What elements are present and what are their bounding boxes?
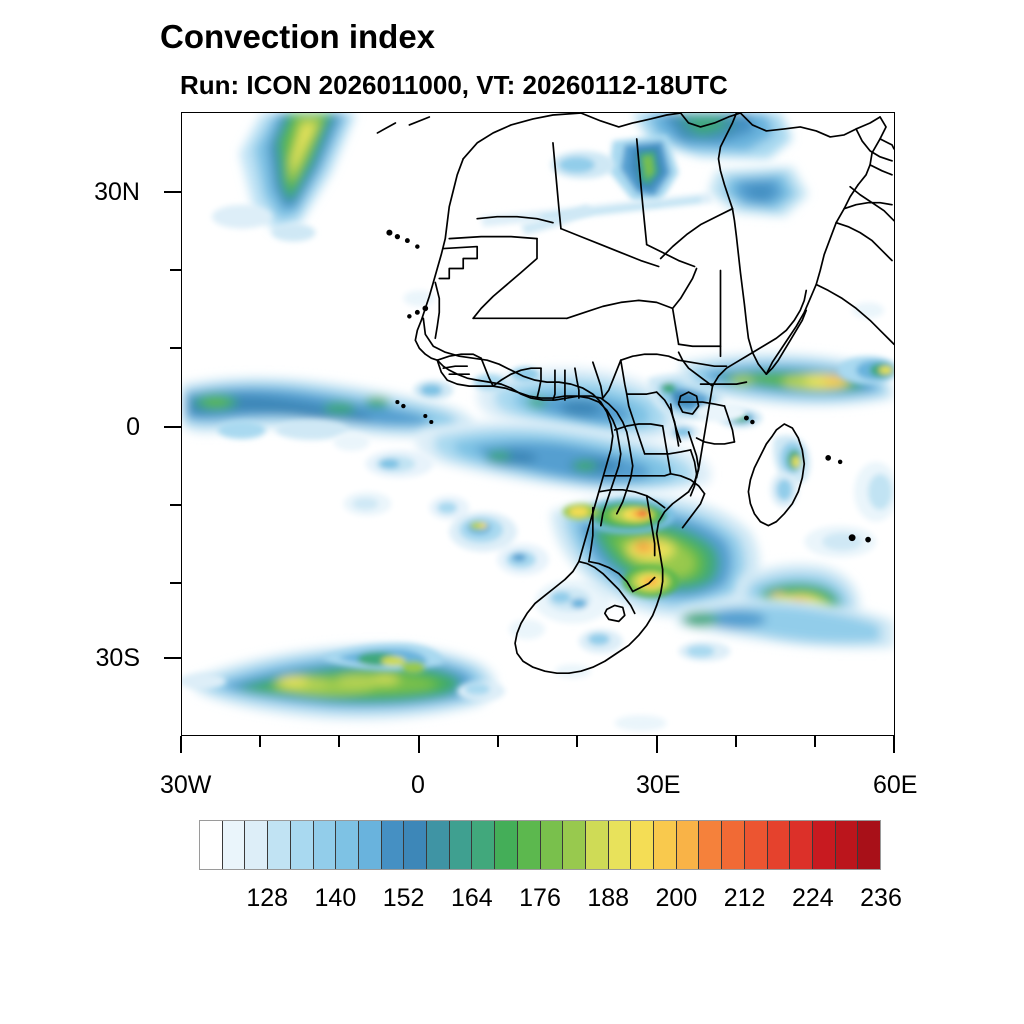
colorbar-tick-label: 176 bbox=[519, 884, 561, 913]
colorbar-tick-label: 152 bbox=[383, 884, 425, 913]
ytick-minor-20N bbox=[170, 269, 181, 271]
xtick-label-0: 0 bbox=[411, 771, 425, 800]
map-canvas bbox=[182, 113, 894, 735]
ytick-label-30N: 30N bbox=[36, 178, 140, 207]
colorbar-cell bbox=[359, 821, 382, 869]
map-plot-area bbox=[181, 112, 895, 736]
colorbar-cell bbox=[699, 821, 722, 869]
xtick-minor-40E bbox=[735, 736, 737, 747]
colorbar-cell bbox=[404, 821, 427, 869]
ytick-major-30N bbox=[164, 191, 181, 193]
colorbar-cell bbox=[609, 821, 632, 869]
colorbar-cell bbox=[291, 821, 314, 869]
colorbar-tick-label: 200 bbox=[656, 884, 698, 913]
colorbar-cell bbox=[813, 821, 836, 869]
figure-root: Convection index Run: ICON 2026011000, V… bbox=[0, 0, 1024, 1024]
ytick-minor-20S bbox=[170, 582, 181, 584]
colorbar-tick-label: 224 bbox=[792, 884, 834, 913]
colorbar-cell bbox=[382, 821, 405, 869]
xtick-minor-10W bbox=[338, 736, 340, 747]
xtick-label-30E: 30E bbox=[636, 771, 680, 800]
ytick-minor-10N bbox=[170, 347, 181, 349]
colorbar-cell bbox=[858, 821, 880, 869]
xtick-minor-20W bbox=[259, 736, 261, 747]
colorbar-tick-label: 164 bbox=[451, 884, 493, 913]
colorbar-tick-label: 236 bbox=[860, 884, 902, 913]
colorbar-cell bbox=[722, 821, 745, 869]
colorbar-cell bbox=[427, 821, 450, 869]
colorbar-cell bbox=[200, 821, 223, 869]
xtick-label-30W: 30W bbox=[160, 771, 211, 800]
colorbar-cell bbox=[631, 821, 654, 869]
xtick-label-60E: 60E bbox=[873, 771, 917, 800]
ytick-label-0: 0 bbox=[36, 413, 140, 442]
colorbar-tick-label: 188 bbox=[587, 884, 629, 913]
colorbar-cell bbox=[518, 821, 541, 869]
xtick-major-0 bbox=[418, 736, 420, 753]
colorbar-cell bbox=[745, 821, 768, 869]
xtick-major-60E bbox=[893, 736, 895, 753]
ytick-label-30S: 30S bbox=[36, 644, 140, 673]
xtick-major-30E bbox=[656, 736, 658, 753]
colorbar-cell bbox=[223, 821, 246, 869]
colorbar-cell bbox=[245, 821, 268, 869]
colorbar-cell bbox=[495, 821, 518, 869]
run-valid-time-subtitle: Run: ICON 2026011000, VT: 20260112-18UTC bbox=[180, 70, 728, 101]
colorbar-cell bbox=[314, 821, 337, 869]
colorbar-cell bbox=[586, 821, 609, 869]
xtick-minor-10E bbox=[497, 736, 499, 747]
colorbar-cell bbox=[563, 821, 586, 869]
colorbar bbox=[199, 820, 881, 870]
ytick-minor-10S bbox=[170, 504, 181, 506]
colorbar-cell bbox=[450, 821, 473, 869]
ytick-major-0 bbox=[164, 426, 181, 428]
colorbar-cell bbox=[836, 821, 859, 869]
ytick-major-30S bbox=[164, 657, 181, 659]
xtick-major-30W bbox=[180, 736, 182, 753]
xtick-minor-50E bbox=[814, 736, 816, 747]
colorbar-cell bbox=[541, 821, 564, 869]
colorbar-cell bbox=[768, 821, 791, 869]
colorbar-cell bbox=[336, 821, 359, 869]
xtick-minor-20E bbox=[576, 736, 578, 747]
colorbar-cell bbox=[654, 821, 677, 869]
colorbar-tick-label: 212 bbox=[724, 884, 766, 913]
colorbar-tick-label: 128 bbox=[246, 884, 288, 913]
colorbar-cell bbox=[677, 821, 700, 869]
colorbar-cell bbox=[268, 821, 291, 869]
page-title: Convection index bbox=[160, 18, 435, 56]
colorbar-cell bbox=[790, 821, 813, 869]
colorbar-tick-label: 140 bbox=[315, 884, 357, 913]
colorbar-cell bbox=[472, 821, 495, 869]
